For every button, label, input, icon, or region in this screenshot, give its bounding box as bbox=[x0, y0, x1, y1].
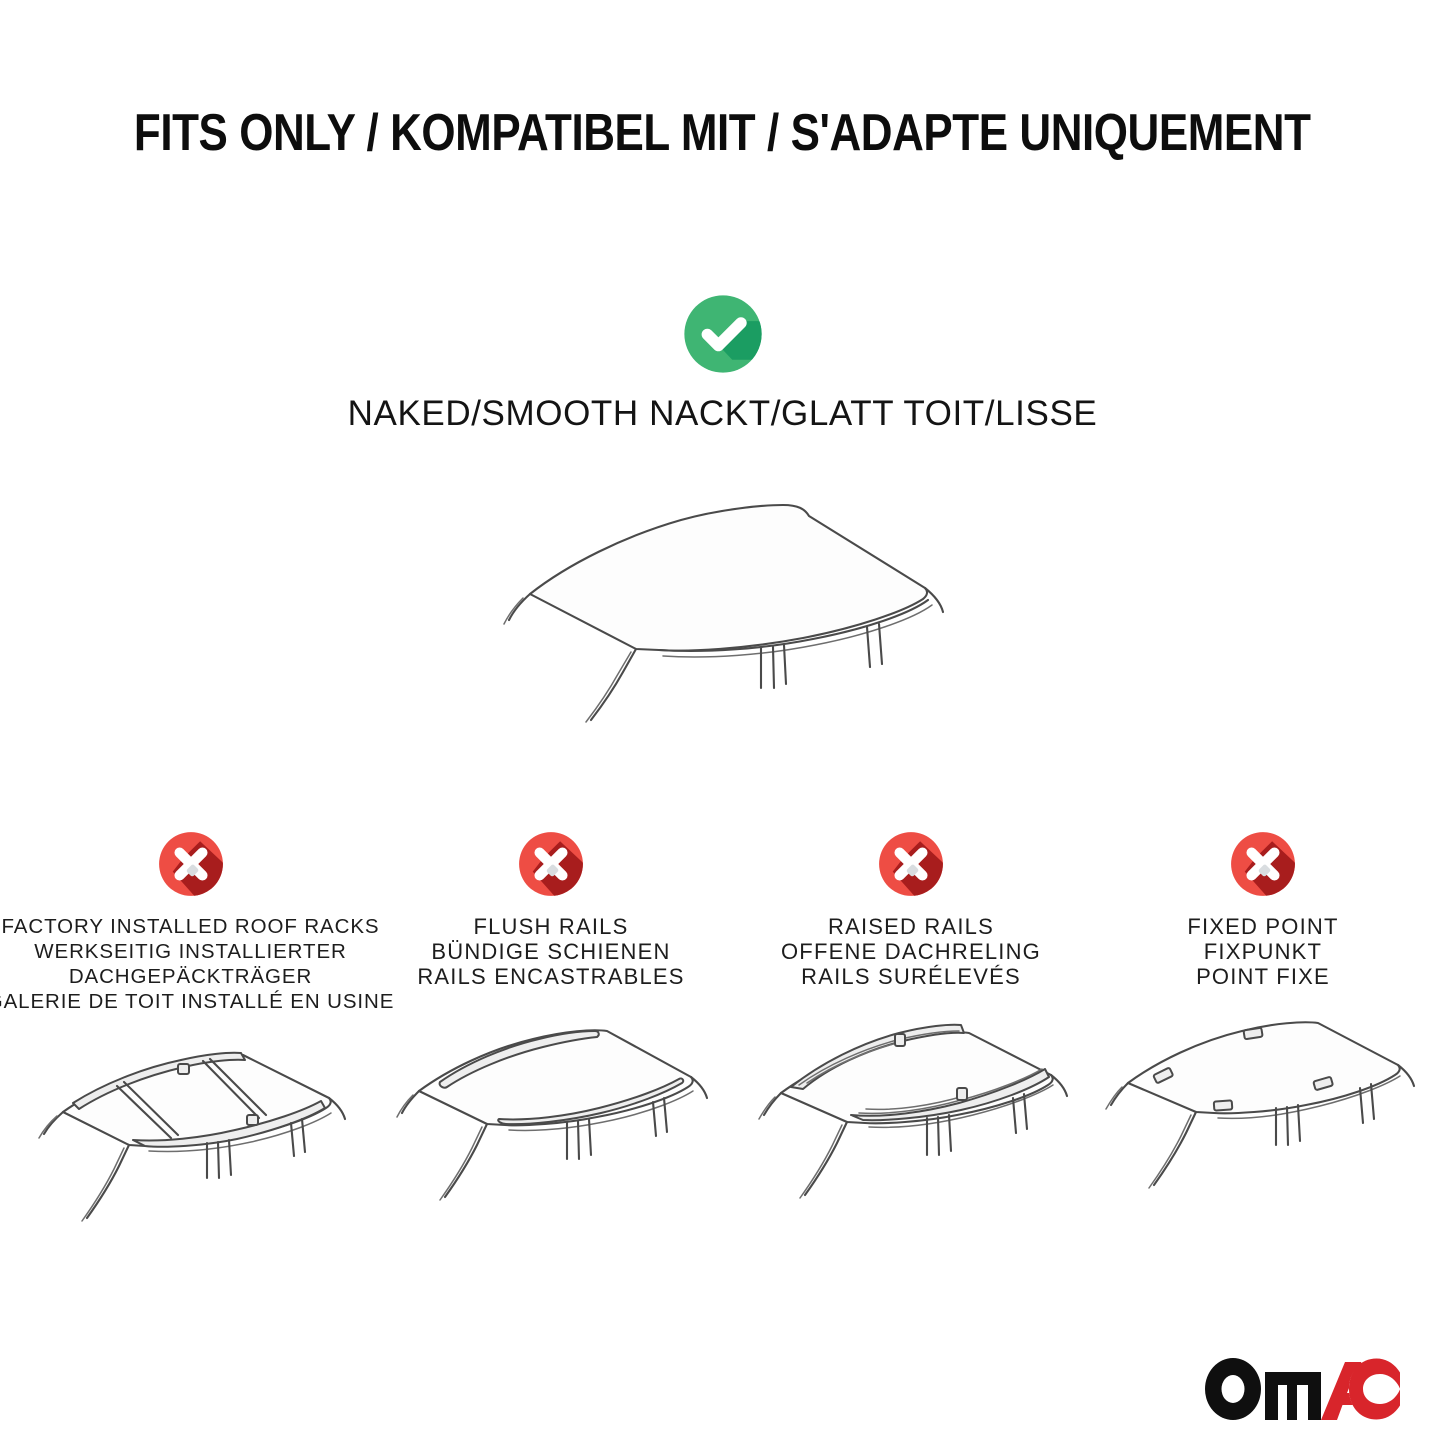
car-roof-factory-rack-illustration bbox=[11, 1028, 371, 1248]
car-roof-naked-smooth-illustration bbox=[0, 492, 1445, 752]
compatible-label: NAKED/SMOOTH NACKT/GLATT TOIT/LISSE bbox=[0, 394, 1445, 434]
option-label: FACTORY INSTALLED ROOF RACKS WERKSEITIG … bbox=[0, 914, 394, 1014]
omac-logo bbox=[1204, 1356, 1400, 1420]
page-title-text: FITS ONLY / KOMPATIBEL MIT / S'ADAPTE UN… bbox=[134, 104, 1311, 162]
option-label-line-3: POINT FIXE bbox=[1187, 964, 1338, 989]
option-label: FLUSH RAILS BÜNDIGE SCHIENEN RAILS ENCAS… bbox=[417, 914, 684, 989]
page-title: FITS ONLY / KOMPATIBEL MIT / S'ADAPTE UN… bbox=[0, 104, 1445, 162]
omac-logo-mark bbox=[1204, 1358, 1400, 1420]
car-roof-naked-smooth-art bbox=[473, 492, 973, 737]
option-label-line-4: GALERIE DE TOIT INSTALLÉ EN USINE bbox=[0, 989, 394, 1014]
car-roof-flush-rails-art bbox=[371, 1003, 731, 1218]
x-circle-icon bbox=[153, 826, 229, 902]
car-roof-fixed-point-art bbox=[1098, 1003, 1428, 1218]
option-label-line-1: RAISED RAILS bbox=[781, 914, 1041, 939]
incompatible-options-grid: FACTORY INSTALLED ROOF RACKS WERKSEITIG … bbox=[0, 826, 1445, 1248]
car-roof-raised-rails-art bbox=[731, 1003, 1091, 1218]
car-roof-factory-rack-art bbox=[11, 1028, 371, 1243]
car-roof-fixed-point-illustration bbox=[1098, 1003, 1428, 1223]
option-label-line-2: WERKSEITIG INSTALLIERTER bbox=[0, 939, 394, 964]
car-roof-raised-rails-illustration bbox=[731, 1003, 1091, 1223]
car-roof-flush-rails-illustration bbox=[371, 1003, 731, 1223]
option-label-line-1: FLUSH RAILS bbox=[417, 914, 684, 939]
option-label: RAISED RAILS OFFENE DACHRELING RAILS SUR… bbox=[781, 914, 1041, 989]
compatible-label-line-2: NACKT/GLATT bbox=[649, 394, 894, 433]
option-label-line-3: RAILS SURÉLEVÉS bbox=[781, 964, 1041, 989]
check-circle-icon bbox=[677, 288, 769, 380]
x-circle-icon bbox=[1225, 826, 1301, 902]
option-factory-installed-roof-racks: FACTORY INSTALLED ROOF RACKS WERKSEITIG … bbox=[10, 826, 371, 1248]
option-label: FIXED POINT FIXPUNKT POINT FIXE bbox=[1187, 914, 1338, 989]
option-label-line-2: BÜNDIGE SCHIENEN bbox=[417, 939, 684, 964]
compatible-label-line-1: NAKED/SMOOTH bbox=[348, 394, 639, 433]
x-circle-icon bbox=[873, 826, 949, 902]
option-flush-rails: FLUSH RAILS BÜNDIGE SCHIENEN RAILS ENCAS… bbox=[371, 826, 731, 1223]
option-label-line-3: RAILS ENCASTRABLES bbox=[417, 964, 684, 989]
option-label-line-1: FIXED POINT bbox=[1187, 914, 1338, 939]
option-label-line-2: OFFENE DACHRELING bbox=[781, 939, 1041, 964]
compatible-label-line-3: TOIT/LISSE bbox=[903, 394, 1097, 433]
option-label-line-2: FIXPUNKT bbox=[1187, 939, 1338, 964]
x-circle-icon bbox=[513, 826, 589, 902]
option-raised-rails: RAISED RAILS OFFENE DACHRELING RAILS SUR… bbox=[731, 826, 1091, 1223]
option-label-line-1: FACTORY INSTALLED ROOF RACKS bbox=[0, 914, 394, 939]
option-label-line-3: DACHGEPÄCKTRÄGER bbox=[0, 964, 394, 989]
compatible-section: NAKED/SMOOTH NACKT/GLATT TOIT/LISSE bbox=[0, 288, 1445, 434]
option-fixed-point: FIXED POINT FIXPUNKT POINT FIXE bbox=[1091, 826, 1435, 1223]
